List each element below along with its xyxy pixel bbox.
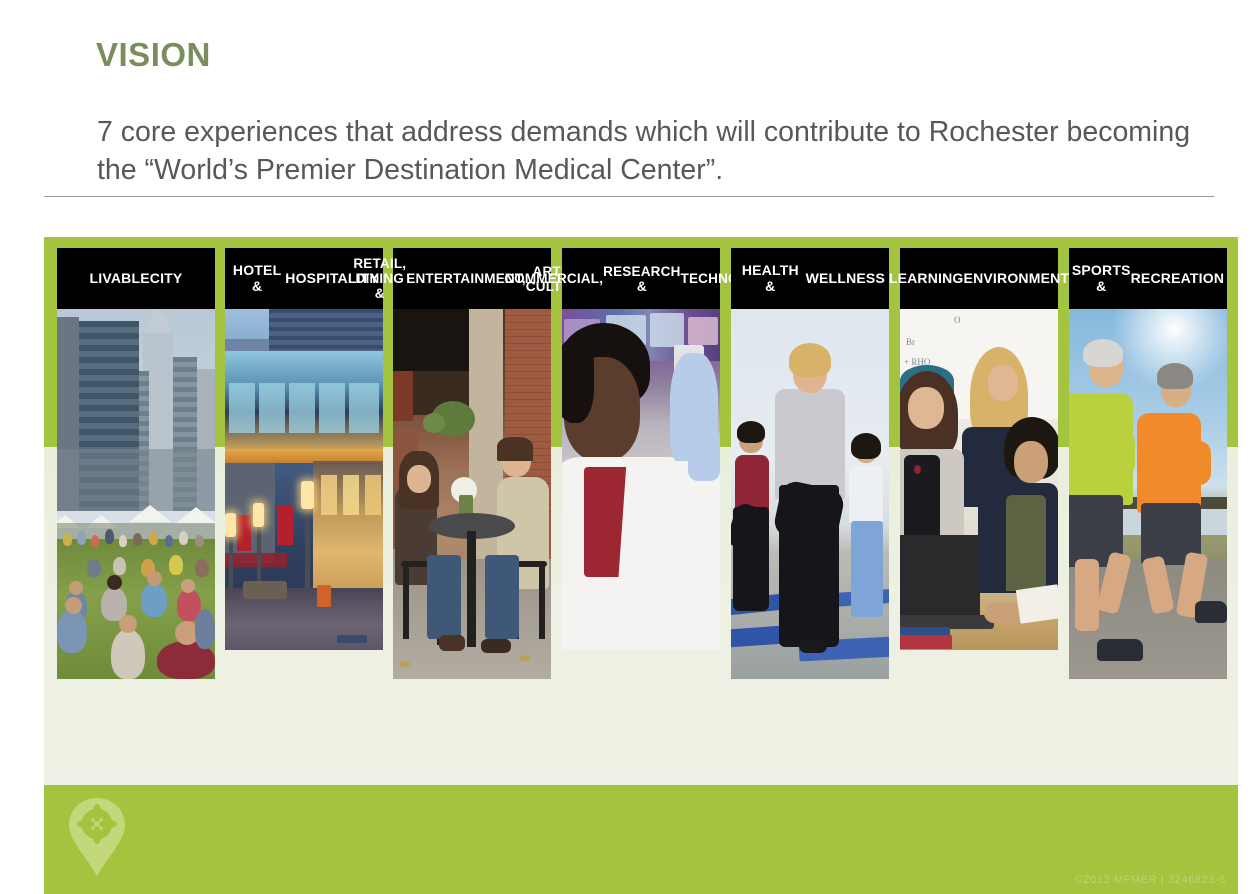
page-title: VISION xyxy=(96,36,211,74)
column-header-sports-recreation: SPORTS & RECREATION xyxy=(1069,248,1227,309)
column-livable-city[interactable]: LIVABLE CITY xyxy=(57,248,215,679)
column-header-commercial-research: COMMERCIAL, RESEARCH & TECHNOLOGY xyxy=(562,248,720,309)
column-photo-learning-environment: Br + RHO O xyxy=(900,309,1058,650)
whiteboard-note-1: Br xyxy=(906,337,915,347)
column-label-line-1: COMMERCIAL, xyxy=(504,271,603,286)
copyright-text: ©2013 MFMER | 3246823-6 xyxy=(1075,874,1226,886)
header-divider xyxy=(44,196,1214,197)
column-label-line-1: SPORTS & xyxy=(1072,263,1131,294)
column-health-wellness[interactable]: HEALTH & WELLNESS xyxy=(731,248,889,679)
column-photo-livable-city xyxy=(57,309,215,679)
column-photo-sports-recreation xyxy=(1069,309,1227,679)
column-label-line-1: RETAIL, DINING & xyxy=(353,256,406,301)
slide-footer: ©2013 MFMER | 3246823-6 xyxy=(44,785,1238,894)
column-label-line-1: HEALTH & xyxy=(735,263,806,294)
column-photo-retail-dining xyxy=(393,309,551,679)
column-sports-recreation[interactable]: SPORTS & RECREATION xyxy=(1069,248,1227,679)
column-label-line-2: RECREATION xyxy=(1131,271,1225,287)
column-label-line-1: HOTEL & xyxy=(229,263,285,294)
column-label-line-2: CITY xyxy=(150,271,183,287)
column-label-line-2: ENVIRONMENT xyxy=(964,271,1070,287)
column-label-line-2: RESEARCH & xyxy=(603,264,680,294)
column-photo-commercial-research xyxy=(562,309,720,650)
column-header-learning-environment: LEARNING ENVIRONMENT xyxy=(900,248,1058,309)
column-commercial-research[interactable]: COMMERCIAL, RESEARCH & TECHNOLOGY xyxy=(562,248,720,650)
slide-subtitle: 7 core experiences that address demands … xyxy=(97,113,1217,189)
column-label-line-2: WELLNESS xyxy=(806,271,885,287)
column-photo-hotel-hospitality xyxy=(225,309,383,650)
column-label-line-1: LIVABLE xyxy=(90,271,150,287)
whiteboard-note-3: O xyxy=(954,315,961,325)
column-header-livable-city: LIVABLE CITY xyxy=(57,248,215,309)
experience-columns: LIVABLE CITY xyxy=(44,237,1238,785)
column-hotel-hospitality[interactable]: HOTEL & HOSPITALITY xyxy=(225,248,383,650)
mayo-clinic-pin-logo xyxy=(66,795,128,879)
column-header-health-wellness: HEALTH & WELLNESS xyxy=(731,248,889,309)
slide-header: VISION 7 core experiences that address d… xyxy=(0,0,1257,205)
column-photo-health-wellness xyxy=(731,309,889,679)
column-retail-dining[interactable]: RETAIL, DINING & ENTERTAINMENT, ARTS & C… xyxy=(393,248,551,679)
column-label-line-1: LEARNING xyxy=(889,271,964,287)
column-learning-environment[interactable]: LEARNING ENVIRONMENT Br + RHO O xyxy=(900,248,1058,650)
